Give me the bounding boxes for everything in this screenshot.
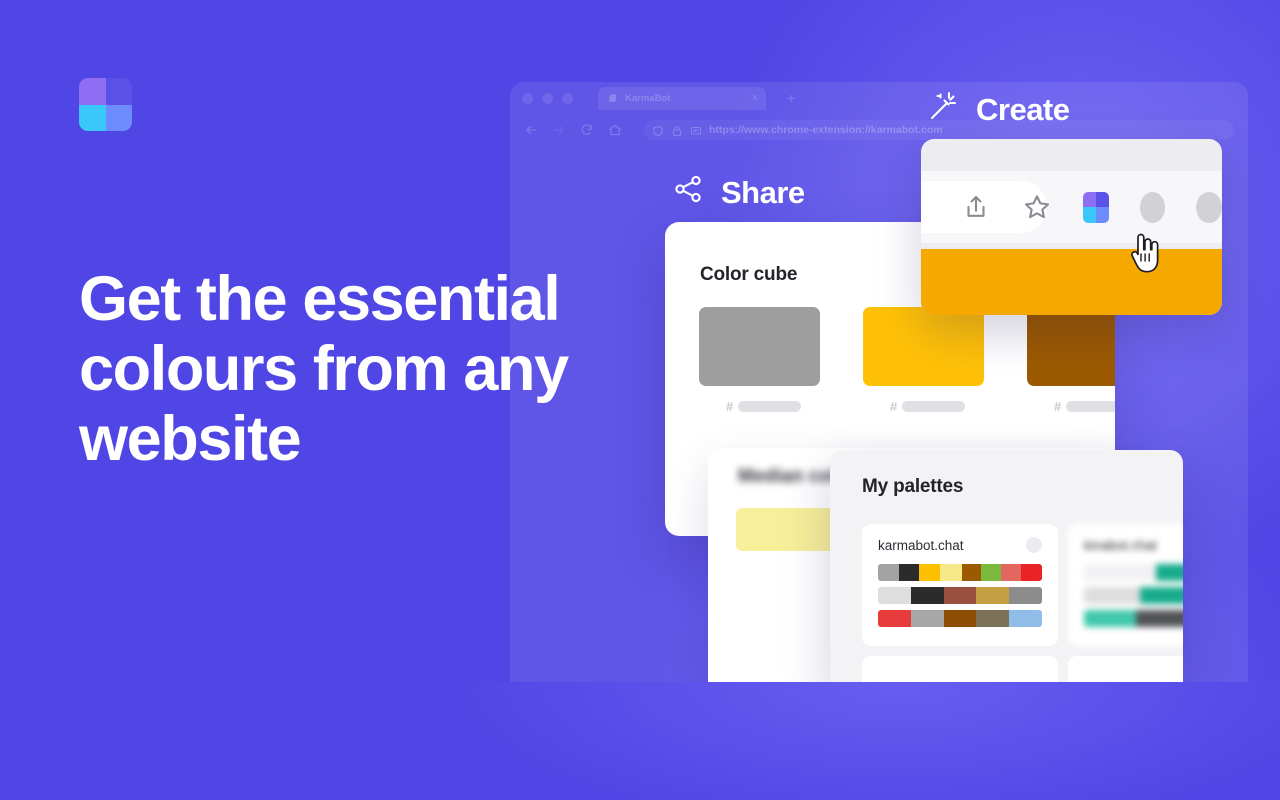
palette-swatch xyxy=(878,587,911,604)
palette-card[interactable] xyxy=(1068,656,1183,682)
share-nodes-icon xyxy=(672,173,704,213)
palette-menu-dot[interactable] xyxy=(1026,537,1042,553)
ext-tile-top-left xyxy=(1083,192,1096,208)
extension-toolbar-strip xyxy=(921,171,1222,243)
palette-swatch xyxy=(981,564,1001,581)
karmabot-extension-icon[interactable] xyxy=(1083,192,1109,223)
caption-share: Share xyxy=(672,173,805,213)
amber-colour-block xyxy=(921,249,1222,315)
hash-symbol: # xyxy=(890,399,897,414)
palette-swatch xyxy=(878,610,911,627)
my-palettes-panel: My palettes karmabot.chat xyxy=(830,450,1183,682)
close-tab-icon[interactable]: × xyxy=(752,93,758,104)
color-swatch-hex: # xyxy=(1027,399,1115,414)
color-cube-swatch-list: # # # xyxy=(699,307,1115,414)
ext-tile-bottom-right xyxy=(1096,207,1109,223)
palette-swatch xyxy=(1009,587,1042,604)
palette-swatch xyxy=(919,564,940,581)
palette-card-header: kinabot.chat xyxy=(1084,537,1183,553)
palette-swatch xyxy=(944,587,977,604)
comment-icon xyxy=(690,124,702,136)
upload-share-icon[interactable] xyxy=(961,192,991,222)
hex-placeholder-bar xyxy=(1066,401,1115,412)
palette-swatch xyxy=(1009,610,1042,627)
palette-swatch xyxy=(944,610,977,627)
logo-tile-top-left xyxy=(79,78,106,105)
logo-tile-top-right xyxy=(106,78,133,105)
page-title: Get the essential colours from any websi… xyxy=(79,264,639,474)
palette-name: karmabot.chat xyxy=(878,538,964,553)
star-icon[interactable] xyxy=(1022,192,1052,222)
color-swatch[interactable]: # xyxy=(699,307,820,414)
palette-colour-rows xyxy=(1084,564,1183,627)
palette-colour-row xyxy=(878,587,1042,604)
ext-tile-bottom-left xyxy=(1083,207,1096,223)
color-swatch[interactable]: # xyxy=(863,307,984,414)
back-arrow-icon[interactable] xyxy=(524,123,538,137)
palette-card-grid: karmabot.chat xyxy=(862,524,1183,682)
hex-placeholder-bar xyxy=(902,401,965,412)
palette-card[interactable]: karmabot.chat xyxy=(862,524,1058,646)
palette-name: kinabot.chat xyxy=(1084,538,1157,553)
color-swatch-chip[interactable] xyxy=(863,307,984,386)
palette-swatch xyxy=(1084,564,1156,581)
palette-colour-row xyxy=(878,610,1042,627)
palette-swatch xyxy=(962,564,982,581)
palette-swatch xyxy=(878,564,899,581)
palette-swatch xyxy=(1021,564,1042,581)
color-swatch-chip[interactable] xyxy=(699,307,820,386)
palette-swatch xyxy=(1156,564,1183,581)
color-cube-title: Color cube xyxy=(700,264,797,286)
ext-tile-top-right xyxy=(1096,192,1109,208)
hero-landing-screenshot: KarmaBot × + xyxy=(0,0,1280,800)
extension-toolbar-popup xyxy=(921,139,1222,315)
hash-symbol: # xyxy=(726,399,733,414)
palette-swatch xyxy=(976,610,1009,627)
palette-swatch xyxy=(1136,610,1183,627)
palette-swatch xyxy=(940,564,961,581)
shield-icon xyxy=(652,124,664,136)
pointing-hand-cursor xyxy=(1128,232,1162,272)
window-maximize-dot[interactable] xyxy=(562,93,573,104)
caption-share-label: Share xyxy=(721,175,805,211)
palette-swatch xyxy=(1001,564,1021,581)
logo-tile-bottom-right xyxy=(106,105,133,132)
browser-tab-title: KarmaBot xyxy=(625,93,746,104)
palette-card-header: karmabot.chat xyxy=(878,537,1042,553)
palette-swatch xyxy=(911,587,944,604)
palette-colour-row xyxy=(1084,610,1183,627)
browser-tab[interactable]: KarmaBot × xyxy=(598,87,766,110)
palette-colour-row xyxy=(878,564,1042,581)
window-minimize-dot[interactable] xyxy=(542,93,553,104)
address-bar-url: https://www.chrome-extension://karmabot.… xyxy=(709,124,943,136)
caption-create: Create xyxy=(927,90,1070,130)
my-palettes-title: My palettes xyxy=(862,476,963,498)
palette-swatch xyxy=(911,610,944,627)
logo-tile-bottom-left xyxy=(79,105,106,132)
palette-card[interactable] xyxy=(862,656,1058,682)
palette-swatch xyxy=(1140,587,1183,604)
hash-symbol: # xyxy=(1054,399,1061,414)
color-swatch-chip[interactable] xyxy=(1027,307,1115,386)
color-swatch[interactable]: # xyxy=(1027,307,1115,414)
palette-swatch xyxy=(899,564,919,581)
window-close-dot[interactable] xyxy=(522,93,533,104)
folder-check-icon xyxy=(836,695,868,735)
palette-colour-row xyxy=(1084,587,1183,604)
palette-swatch xyxy=(976,587,1009,604)
caption-create-label: Create xyxy=(976,92,1070,128)
profile-avatar[interactable] xyxy=(1196,192,1222,223)
palette-swatch xyxy=(1084,587,1140,604)
home-icon[interactable] xyxy=(608,123,622,137)
palette-colour-row xyxy=(1084,564,1183,581)
browser-tab-bar: KarmaBot × + xyxy=(510,82,1248,114)
caption-access-anytime: Access anytime xyxy=(836,695,1112,735)
karmabot-favicon-icon xyxy=(606,92,619,105)
reload-icon[interactable] xyxy=(580,123,594,137)
karmabot-logo xyxy=(79,78,132,131)
profile-avatar[interactable] xyxy=(1140,192,1166,223)
color-swatch-hex: # xyxy=(699,399,820,414)
hex-placeholder-bar xyxy=(738,401,801,412)
color-swatch-hex: # xyxy=(863,399,984,414)
palette-card[interactable]: kinabot.chat xyxy=(1068,524,1183,646)
caption-access-label: Access anytime xyxy=(885,697,1112,733)
new-tab-icon[interactable]: + xyxy=(787,91,795,105)
palette-colour-rows xyxy=(878,564,1042,627)
forward-arrow-icon[interactable] xyxy=(552,123,566,137)
lock-icon xyxy=(671,124,683,136)
palette-swatch xyxy=(1084,610,1136,627)
magic-wand-icon xyxy=(927,90,959,130)
